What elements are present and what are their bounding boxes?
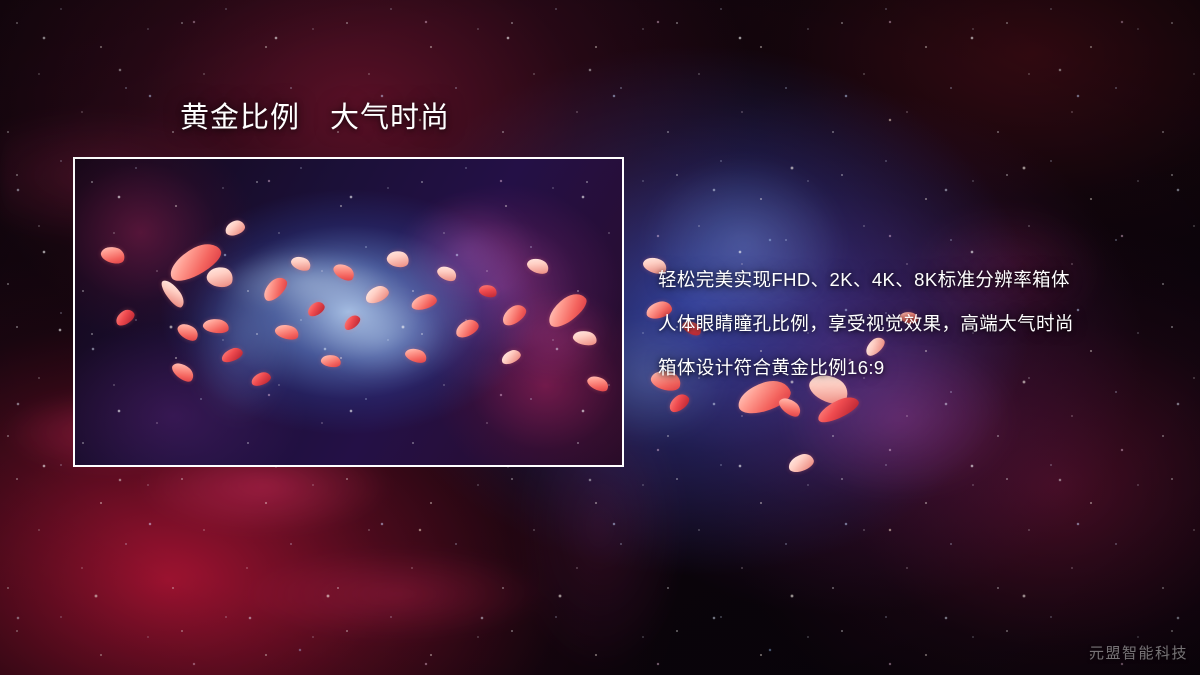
watermark-label: 元盟智能科技 <box>1089 642 1188 663</box>
slide-canvas: 黄金比例 大气时尚 <box>0 0 1200 675</box>
petal <box>666 391 692 415</box>
inset-starfield-medium <box>75 159 622 465</box>
body-line: 人体眼睛瞳孔比例，享受视觉效果，高端大气时尚 <box>658 302 1168 346</box>
inset-image-frame[interactable] <box>73 157 624 467</box>
body-text-block: 轻松完美实现FHD、2K、4K、8K标准分辨率箱体 人体眼睛瞳孔比例，享受视觉效… <box>658 258 1168 390</box>
body-line: 箱体设计符合黄金比例16:9 <box>658 346 1168 390</box>
petal <box>786 451 816 474</box>
body-line: 轻松完美实现FHD、2K、4K、8K标准分辨率箱体 <box>658 258 1168 302</box>
page-title: 黄金比例 大气时尚 <box>180 104 450 133</box>
